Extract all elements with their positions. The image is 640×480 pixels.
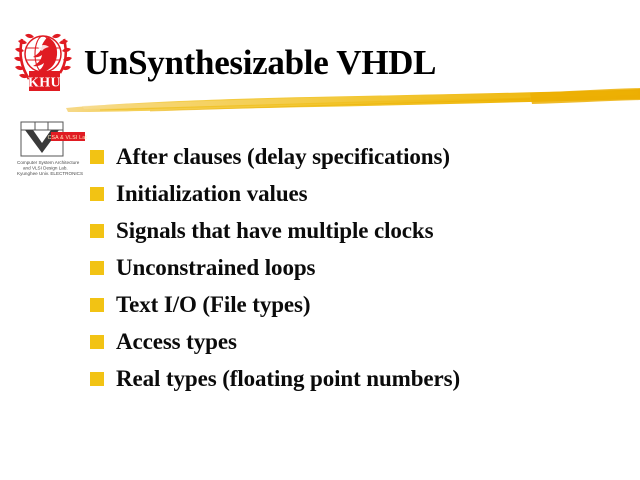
svg-text:KHU: KHU bbox=[28, 76, 61, 91]
list-item: Access types bbox=[90, 327, 630, 364]
list-item-label: Text I/O (File types) bbox=[116, 290, 310, 319]
list-item: Real types (floating point numbers) bbox=[90, 364, 630, 401]
square-bullet-icon bbox=[90, 150, 104, 164]
lab-logo-icon: CSA & VLSI Lab Computer System Architect… bbox=[15, 120, 87, 178]
lab-badge-label: CSA & VLSI Lab bbox=[48, 135, 87, 141]
square-bullet-icon bbox=[90, 224, 104, 238]
list-item: Unconstrained loops bbox=[90, 253, 630, 290]
list-item-label: Unconstrained loops bbox=[116, 253, 315, 282]
list-item: After clauses (delay specifications) bbox=[90, 142, 630, 179]
square-bullet-icon bbox=[90, 187, 104, 201]
list-item-label: Real types (floating point numbers) bbox=[116, 364, 460, 393]
slide-canvas: KHU UnSynthesizable VHDL bbox=[0, 0, 640, 480]
lab-caption-line-2: and VLSI Design Lab. bbox=[23, 165, 68, 170]
lab-caption-line-1: Computer System Architecture bbox=[17, 160, 80, 165]
list-item-label: Access types bbox=[116, 327, 237, 356]
list-item: Initialization values bbox=[90, 179, 630, 216]
bullet-list: After clauses (delay specifications) Ini… bbox=[90, 142, 630, 401]
list-item-label: Initialization values bbox=[116, 179, 308, 208]
list-item: Text I/O (File types) bbox=[90, 290, 630, 327]
lab-caption-line-3: Kyunghee Univ. ELECTRONICS bbox=[17, 171, 83, 176]
title-underline-brushstroke bbox=[60, 86, 640, 120]
slide-title: UnSynthesizable VHDL bbox=[84, 44, 436, 82]
square-bullet-icon bbox=[90, 298, 104, 312]
list-item-label: Signals that have multiple clocks bbox=[116, 216, 433, 245]
list-item-label: After clauses (delay specifications) bbox=[116, 142, 450, 171]
square-bullet-icon bbox=[90, 372, 104, 386]
square-bullet-icon bbox=[90, 261, 104, 275]
square-bullet-icon bbox=[90, 335, 104, 349]
khu-crest-icon: KHU bbox=[12, 27, 74, 95]
list-item: Signals that have multiple clocks bbox=[90, 216, 630, 253]
